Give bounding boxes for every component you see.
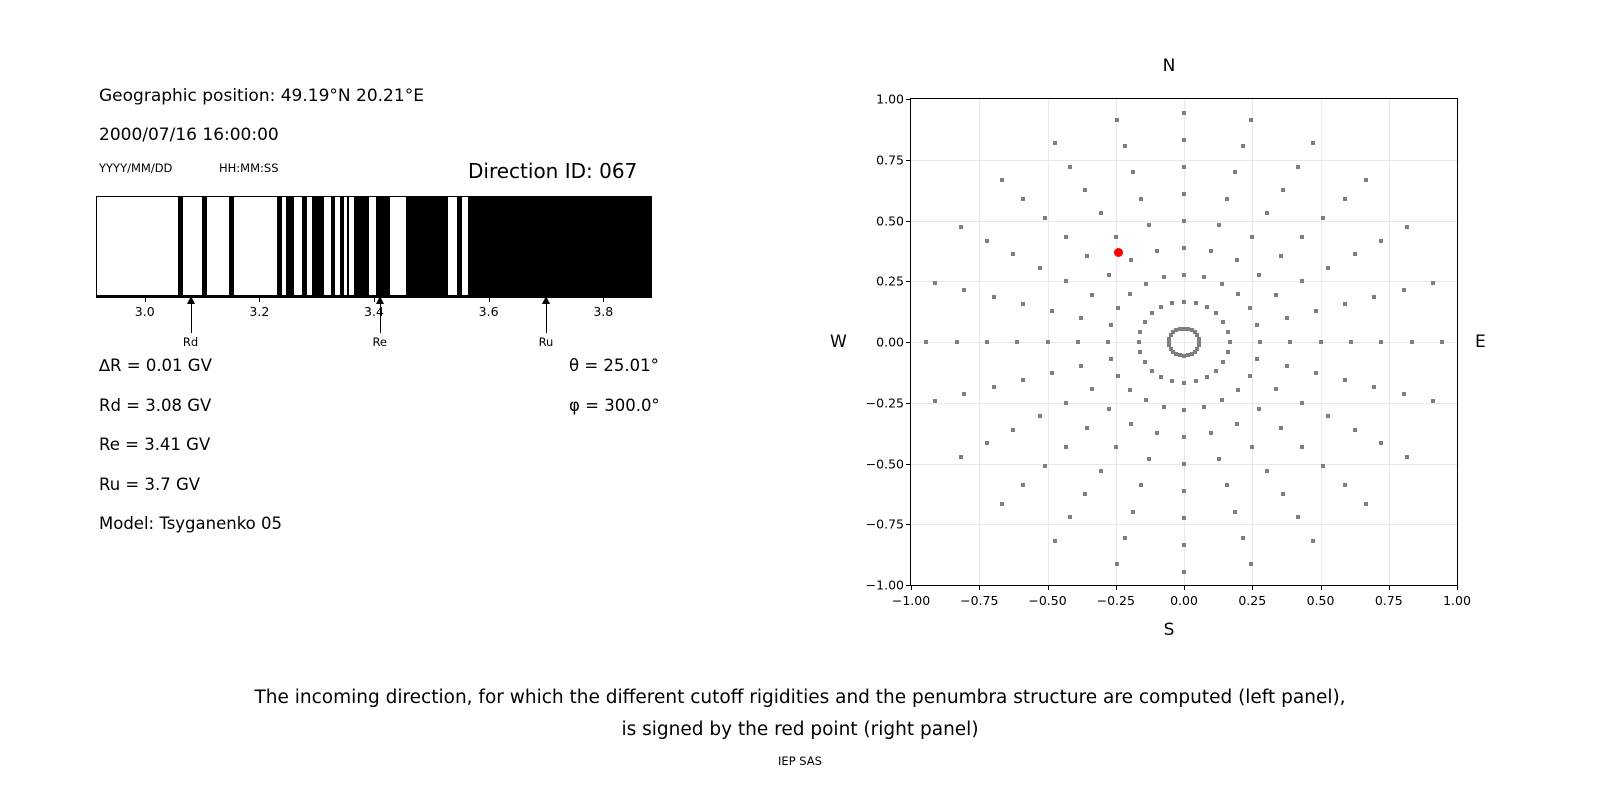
direction-point: [1182, 111, 1186, 115]
direction-point: [1182, 543, 1186, 547]
direction-point: [1353, 428, 1357, 432]
direction-point: [1343, 197, 1347, 201]
direction-point: [1015, 340, 1019, 344]
y-axis-tick: [906, 281, 910, 282]
y-axis-tick: [906, 403, 910, 404]
direction-point: [924, 340, 928, 344]
penumbra-bar: [96, 196, 652, 296]
direction-point: [1000, 502, 1004, 506]
direction-point: [1182, 435, 1186, 439]
direction-point: [985, 340, 989, 344]
x-axis-tick-label: −1.00: [892, 593, 930, 608]
direction-point: [1205, 305, 1209, 309]
x-axis-tick: [911, 586, 912, 590]
direction-point: [1068, 165, 1072, 169]
x-axis-tick: [979, 586, 980, 590]
direction-point: [1123, 536, 1127, 540]
direction-point: [1225, 197, 1229, 201]
x-axis-tick: [1457, 586, 1458, 590]
direction-point: [1182, 408, 1186, 412]
selected-direction-point[interactable]: [1114, 248, 1123, 257]
gridline-horizontal: [911, 524, 1457, 525]
y-axis-tick-label: −1.00: [848, 578, 904, 593]
direction-point: [1109, 357, 1113, 361]
direction-point: [1129, 422, 1133, 426]
direction-point: [1314, 309, 1318, 313]
direction-point: [1162, 405, 1166, 409]
x-axis-tick: [1184, 586, 1185, 590]
direction-point: [1182, 300, 1186, 304]
direction-point: [1155, 249, 1159, 253]
direction-point: [1053, 141, 1057, 145]
direction-point: [1182, 381, 1186, 385]
direction-point: [1326, 266, 1330, 270]
direction-point: [1217, 457, 1221, 461]
direction-point: [1255, 357, 1259, 361]
penumbra-band: [376, 197, 389, 295]
direction-point: [962, 392, 966, 396]
x-axis-tick-label: 1.00: [1443, 593, 1471, 608]
direction-point: [1379, 239, 1383, 243]
direction-point: [1114, 445, 1118, 449]
parameter-row: Ru = 3.7 GV: [99, 475, 200, 494]
y-axis-tick-label: 0.25: [848, 274, 904, 289]
penumbra-band: [178, 197, 184, 295]
x-axis-tick: [1321, 586, 1322, 590]
direction-point: [1248, 306, 1252, 310]
direction-point: [962, 288, 966, 292]
direction-point: [1178, 353, 1182, 357]
cutoff-marker-label: Ru: [539, 335, 554, 349]
direction-point: [1053, 539, 1057, 543]
direction-point: [1274, 387, 1278, 391]
direction-point: [1182, 516, 1186, 520]
x-axis-tick: [1252, 586, 1253, 590]
cutoff-marker-label: Re: [372, 335, 387, 349]
direction-point: [1343, 483, 1347, 487]
direction-point: [1162, 275, 1166, 279]
direction-point: [1155, 431, 1159, 435]
arrow-up-icon: [542, 296, 550, 304]
direction-point: [1114, 235, 1118, 239]
x-axis-tick: [1048, 586, 1049, 590]
direction-point: [1115, 118, 1119, 122]
direction-point: [1085, 426, 1089, 430]
penumbra-band: [354, 197, 369, 295]
direction-point: [1182, 138, 1186, 142]
direction-point: [1379, 340, 1383, 344]
direction-point: [1209, 431, 1213, 435]
direction-point: [1221, 360, 1225, 364]
direction-point: [1343, 302, 1347, 306]
penumbra-band: [468, 197, 652, 295]
direction-point: [1170, 301, 1174, 305]
direction-point: [1300, 445, 1304, 449]
gridline-horizontal: [911, 281, 1457, 282]
penumbra-band: [331, 197, 335, 295]
direction-point: [1129, 258, 1133, 262]
x-axis-tick-label: −0.50: [1028, 593, 1066, 608]
direction-point: [1319, 340, 1323, 344]
direction-point: [1235, 422, 1239, 426]
y-axis-tick: [906, 524, 910, 525]
direction-point: [1139, 483, 1143, 487]
direction-point: [1182, 570, 1186, 574]
direction-point: [1257, 273, 1261, 277]
direction-point: [1144, 398, 1148, 402]
direction-point: [1321, 464, 1325, 468]
direction-point: [1064, 401, 1068, 405]
penumbra-band: [277, 197, 282, 295]
penumbra-band: [457, 197, 462, 295]
direction-point: [1182, 273, 1186, 277]
direction-point: [1257, 407, 1261, 411]
direction-point: [1182, 165, 1186, 169]
direction-point: [1311, 141, 1315, 145]
direction-point: [1182, 219, 1186, 223]
penumbra-band: [229, 197, 234, 295]
direction-point: [1064, 445, 1068, 449]
direction-point: [1249, 118, 1253, 122]
direction-point: [1083, 492, 1087, 496]
x-axis-tick-label: 0.25: [1238, 593, 1266, 608]
y-axis-tick: [906, 464, 910, 465]
penumbra-band: [406, 197, 447, 295]
direction-point: [1144, 282, 1148, 286]
direction-point: [1405, 225, 1409, 229]
direction-point: [1068, 515, 1072, 519]
direction-point: [1099, 211, 1103, 215]
direction-point: [1046, 340, 1050, 344]
direction-point: [1214, 311, 1218, 315]
direction-point: [1131, 510, 1135, 514]
time-format-hint: HH:MM:SS: [219, 161, 279, 175]
direction-point: [1128, 388, 1132, 392]
direction-point: [1235, 258, 1239, 262]
geographic-position: Geographic position: 49.19°N 20.21°E: [99, 86, 424, 106]
direction-point: [1115, 562, 1119, 566]
direction-point: [1353, 252, 1357, 256]
direction-point: [1182, 462, 1186, 466]
direction-point: [1248, 374, 1252, 378]
direction-point: [1021, 302, 1025, 306]
direction-point: [1285, 364, 1289, 368]
direction-point: [1043, 216, 1047, 220]
direction-point: [1021, 197, 1025, 201]
direction-point: [959, 455, 963, 459]
penumbra-chart: [96, 196, 652, 296]
direction-point: [1147, 457, 1151, 461]
direction-point: [1147, 223, 1151, 227]
direction-point: [1281, 188, 1285, 192]
parameter-row: Model: Tsyganenko 05: [99, 514, 282, 533]
direction-point: [1431, 281, 1435, 285]
direction-point: [1296, 515, 1300, 519]
direction-point: [1321, 216, 1325, 220]
datetime-value: 2000/07/16 16:00:00: [99, 125, 279, 145]
x-axis-tick-label: 0.00: [1170, 593, 1198, 608]
direction-point: [1233, 510, 1237, 514]
direction-point: [1279, 254, 1283, 258]
direction-point: [1021, 378, 1025, 382]
direction-point: [1300, 279, 1304, 283]
direction-point: [1217, 223, 1221, 227]
direction-point: [1250, 445, 1254, 449]
direction-point: [1221, 320, 1225, 324]
direction-point: [1083, 188, 1087, 192]
direction-point: [1123, 144, 1127, 148]
direction-point: [1265, 211, 1269, 215]
direction-point: [1085, 254, 1089, 258]
direction-point: [1300, 235, 1304, 239]
direction-point: [1043, 464, 1047, 468]
direction-point: [1138, 350, 1142, 354]
penumbra-band: [302, 197, 307, 295]
direction-point: [1139, 197, 1143, 201]
direction-point: [1116, 306, 1120, 310]
angle-list: θ = 25.01°φ = 300.0°: [99, 356, 659, 456]
direction-point: [1182, 354, 1186, 358]
direction-point: [1410, 340, 1414, 344]
caption-line-1: The incoming direction, for which the di…: [0, 682, 1600, 714]
y-axis-tick-label: −0.50: [848, 456, 904, 471]
direction-point: [1402, 288, 1406, 292]
penumbra-band: [340, 197, 344, 295]
arrow-up-icon: [187, 296, 195, 304]
penumbra-band: [347, 197, 350, 295]
direction-point: [1228, 340, 1232, 344]
direction-grid-plot[interactable]: [910, 98, 1458, 586]
compass-west-label: W: [830, 332, 847, 352]
direction-point: [1314, 371, 1318, 375]
direction-point: [1296, 165, 1300, 169]
gridline-horizontal: [911, 160, 1457, 161]
direction-point: [1343, 378, 1347, 382]
direction-point: [1379, 441, 1383, 445]
direction-point: [1194, 379, 1198, 383]
penumbra-band: [286, 197, 293, 295]
direction-point: [1241, 536, 1245, 540]
x-axis-tick-label: −0.75: [960, 593, 998, 608]
direction-point: [933, 399, 937, 403]
y-axis-tick: [906, 160, 910, 161]
direction-point: [1050, 371, 1054, 375]
direction-point: [1106, 340, 1110, 344]
angle-row: θ = 25.01°: [569, 356, 659, 375]
direction-point: [1090, 387, 1094, 391]
direction-point: [1279, 426, 1283, 430]
direction-point: [1109, 323, 1113, 327]
direction-point: [1311, 539, 1315, 543]
x-axis-tick-label: 0.50: [1307, 593, 1335, 608]
direction-point: [1202, 275, 1206, 279]
direction-point: [1079, 316, 1083, 320]
direction-point: [1214, 369, 1218, 373]
direction-point: [1431, 399, 1435, 403]
direction-point: [1326, 414, 1330, 418]
direction-point: [1021, 483, 1025, 487]
direction-point: [985, 239, 989, 243]
direction-point: [1190, 352, 1194, 356]
direction-point: [1364, 502, 1368, 506]
x-axis-tick: [1389, 586, 1390, 590]
direction-point: [933, 281, 937, 285]
y-axis-tick-label: −0.75: [848, 517, 904, 532]
direction-point: [1050, 309, 1054, 313]
direction-point: [1364, 178, 1368, 182]
direction-point: [1440, 340, 1444, 344]
direction-point: [1205, 375, 1209, 379]
direction-point: [985, 441, 989, 445]
direction-point: [1241, 144, 1245, 148]
direction-point: [1288, 340, 1292, 344]
y-axis-tick: [906, 342, 910, 343]
direction-point: [1202, 405, 1206, 409]
direction-point: [1079, 364, 1083, 368]
direction-point: [1349, 340, 1353, 344]
direction-point: [1064, 235, 1068, 239]
y-axis-tick-label: 0.00: [848, 335, 904, 350]
direction-point: [1220, 398, 1224, 402]
cutoff-marker-label: Rd: [183, 335, 198, 349]
direction-point: [1402, 392, 1406, 396]
angle-row: φ = 300.0°: [569, 396, 660, 415]
direction-point: [1226, 330, 1230, 334]
y-axis-tick-label: 1.00: [848, 92, 904, 107]
direction-point: [1233, 170, 1237, 174]
direction-point: [1167, 343, 1171, 347]
y-axis-tick-label: −0.25: [848, 395, 904, 410]
direction-point: [1128, 292, 1132, 296]
direction-point: [1258, 340, 1262, 344]
direction-point: [1107, 273, 1111, 277]
direction-point: [1107, 407, 1111, 411]
direction-point: [1159, 305, 1163, 309]
direction-point: [1150, 311, 1154, 315]
direction-point: [1137, 340, 1141, 344]
y-axis-tick: [906, 221, 910, 222]
direction-point: [1285, 316, 1289, 320]
direction-point: [1131, 170, 1135, 174]
direction-point: [1372, 385, 1376, 389]
direction-point: [1265, 469, 1269, 473]
direction-point: [1167, 340, 1171, 344]
right-panel: N S W E −1.00−0.75−0.50−0.250.000.250.50…: [820, 40, 1520, 660]
penumbra-cutoff-markers: RdReRu: [96, 298, 652, 358]
direction-point: [1064, 279, 1068, 283]
direction-point: [959, 225, 963, 229]
direction-point: [1209, 249, 1213, 253]
direction-point: [1011, 428, 1015, 432]
direction-point: [1250, 235, 1254, 239]
gridline-horizontal: [911, 342, 1457, 343]
direction-point: [1076, 340, 1080, 344]
x-axis-tick-label: 0.75: [1375, 593, 1403, 608]
direction-point: [1300, 401, 1304, 405]
direction-point: [1143, 360, 1147, 364]
left-panel: Geographic position: 49.19°N 20.21°E 200…: [0, 0, 760, 660]
direction-point: [1170, 379, 1174, 383]
y-axis-tick: [906, 99, 910, 100]
y-axis-tick-label: 0.50: [848, 213, 904, 228]
arrow-up-icon: [376, 296, 384, 304]
direction-point: [1099, 469, 1103, 473]
direction-point: [992, 385, 996, 389]
direction-id-label: Direction ID: 067: [468, 159, 637, 183]
direction-point: [1000, 178, 1004, 182]
direction-point: [1178, 327, 1182, 331]
direction-point: [1182, 489, 1186, 493]
footer-credit: IEP SAS: [0, 754, 1600, 768]
direction-point: [1249, 562, 1253, 566]
penumbra-band: [312, 197, 324, 295]
direction-point: [1138, 330, 1142, 334]
date-format-hint: YYYY/MM/DD: [99, 161, 172, 175]
x-axis-tick-label: −0.25: [1097, 593, 1135, 608]
direction-point: [1143, 320, 1147, 324]
direction-point: [1116, 374, 1120, 378]
compass-north-label: N: [1163, 56, 1176, 76]
compass-south-label: S: [1164, 620, 1175, 640]
direction-point: [1225, 483, 1229, 487]
direction-point: [1186, 353, 1190, 357]
figure-caption: The incoming direction, for which the di…: [0, 682, 1600, 746]
gridline-horizontal: [911, 403, 1457, 404]
x-axis-tick: [1116, 586, 1117, 590]
direction-point: [992, 295, 996, 299]
direction-point: [1038, 266, 1042, 270]
direction-point: [1011, 252, 1015, 256]
direction-point: [1038, 414, 1042, 418]
direction-point: [1150, 369, 1154, 373]
direction-point: [1236, 388, 1240, 392]
direction-point: [955, 340, 959, 344]
direction-point: [1405, 455, 1409, 459]
direction-point: [1255, 323, 1259, 327]
direction-point: [1274, 293, 1278, 297]
direction-point: [1372, 295, 1376, 299]
direction-point: [1236, 292, 1240, 296]
y-axis-tick-label: 0.75: [848, 152, 904, 167]
direction-point: [1226, 350, 1230, 354]
direction-point: [1281, 492, 1285, 496]
direction-point: [1182, 192, 1186, 196]
direction-point: [1220, 282, 1224, 286]
direction-point: [1159, 375, 1163, 379]
direction-point: [1090, 293, 1094, 297]
direction-point: [1194, 301, 1198, 305]
compass-east-label: E: [1475, 332, 1486, 352]
caption-line-2: is signed by the red point (right panel): [0, 714, 1600, 746]
direction-point: [1182, 246, 1186, 250]
y-axis-tick: [906, 585, 910, 586]
penumbra-band: [202, 197, 207, 295]
